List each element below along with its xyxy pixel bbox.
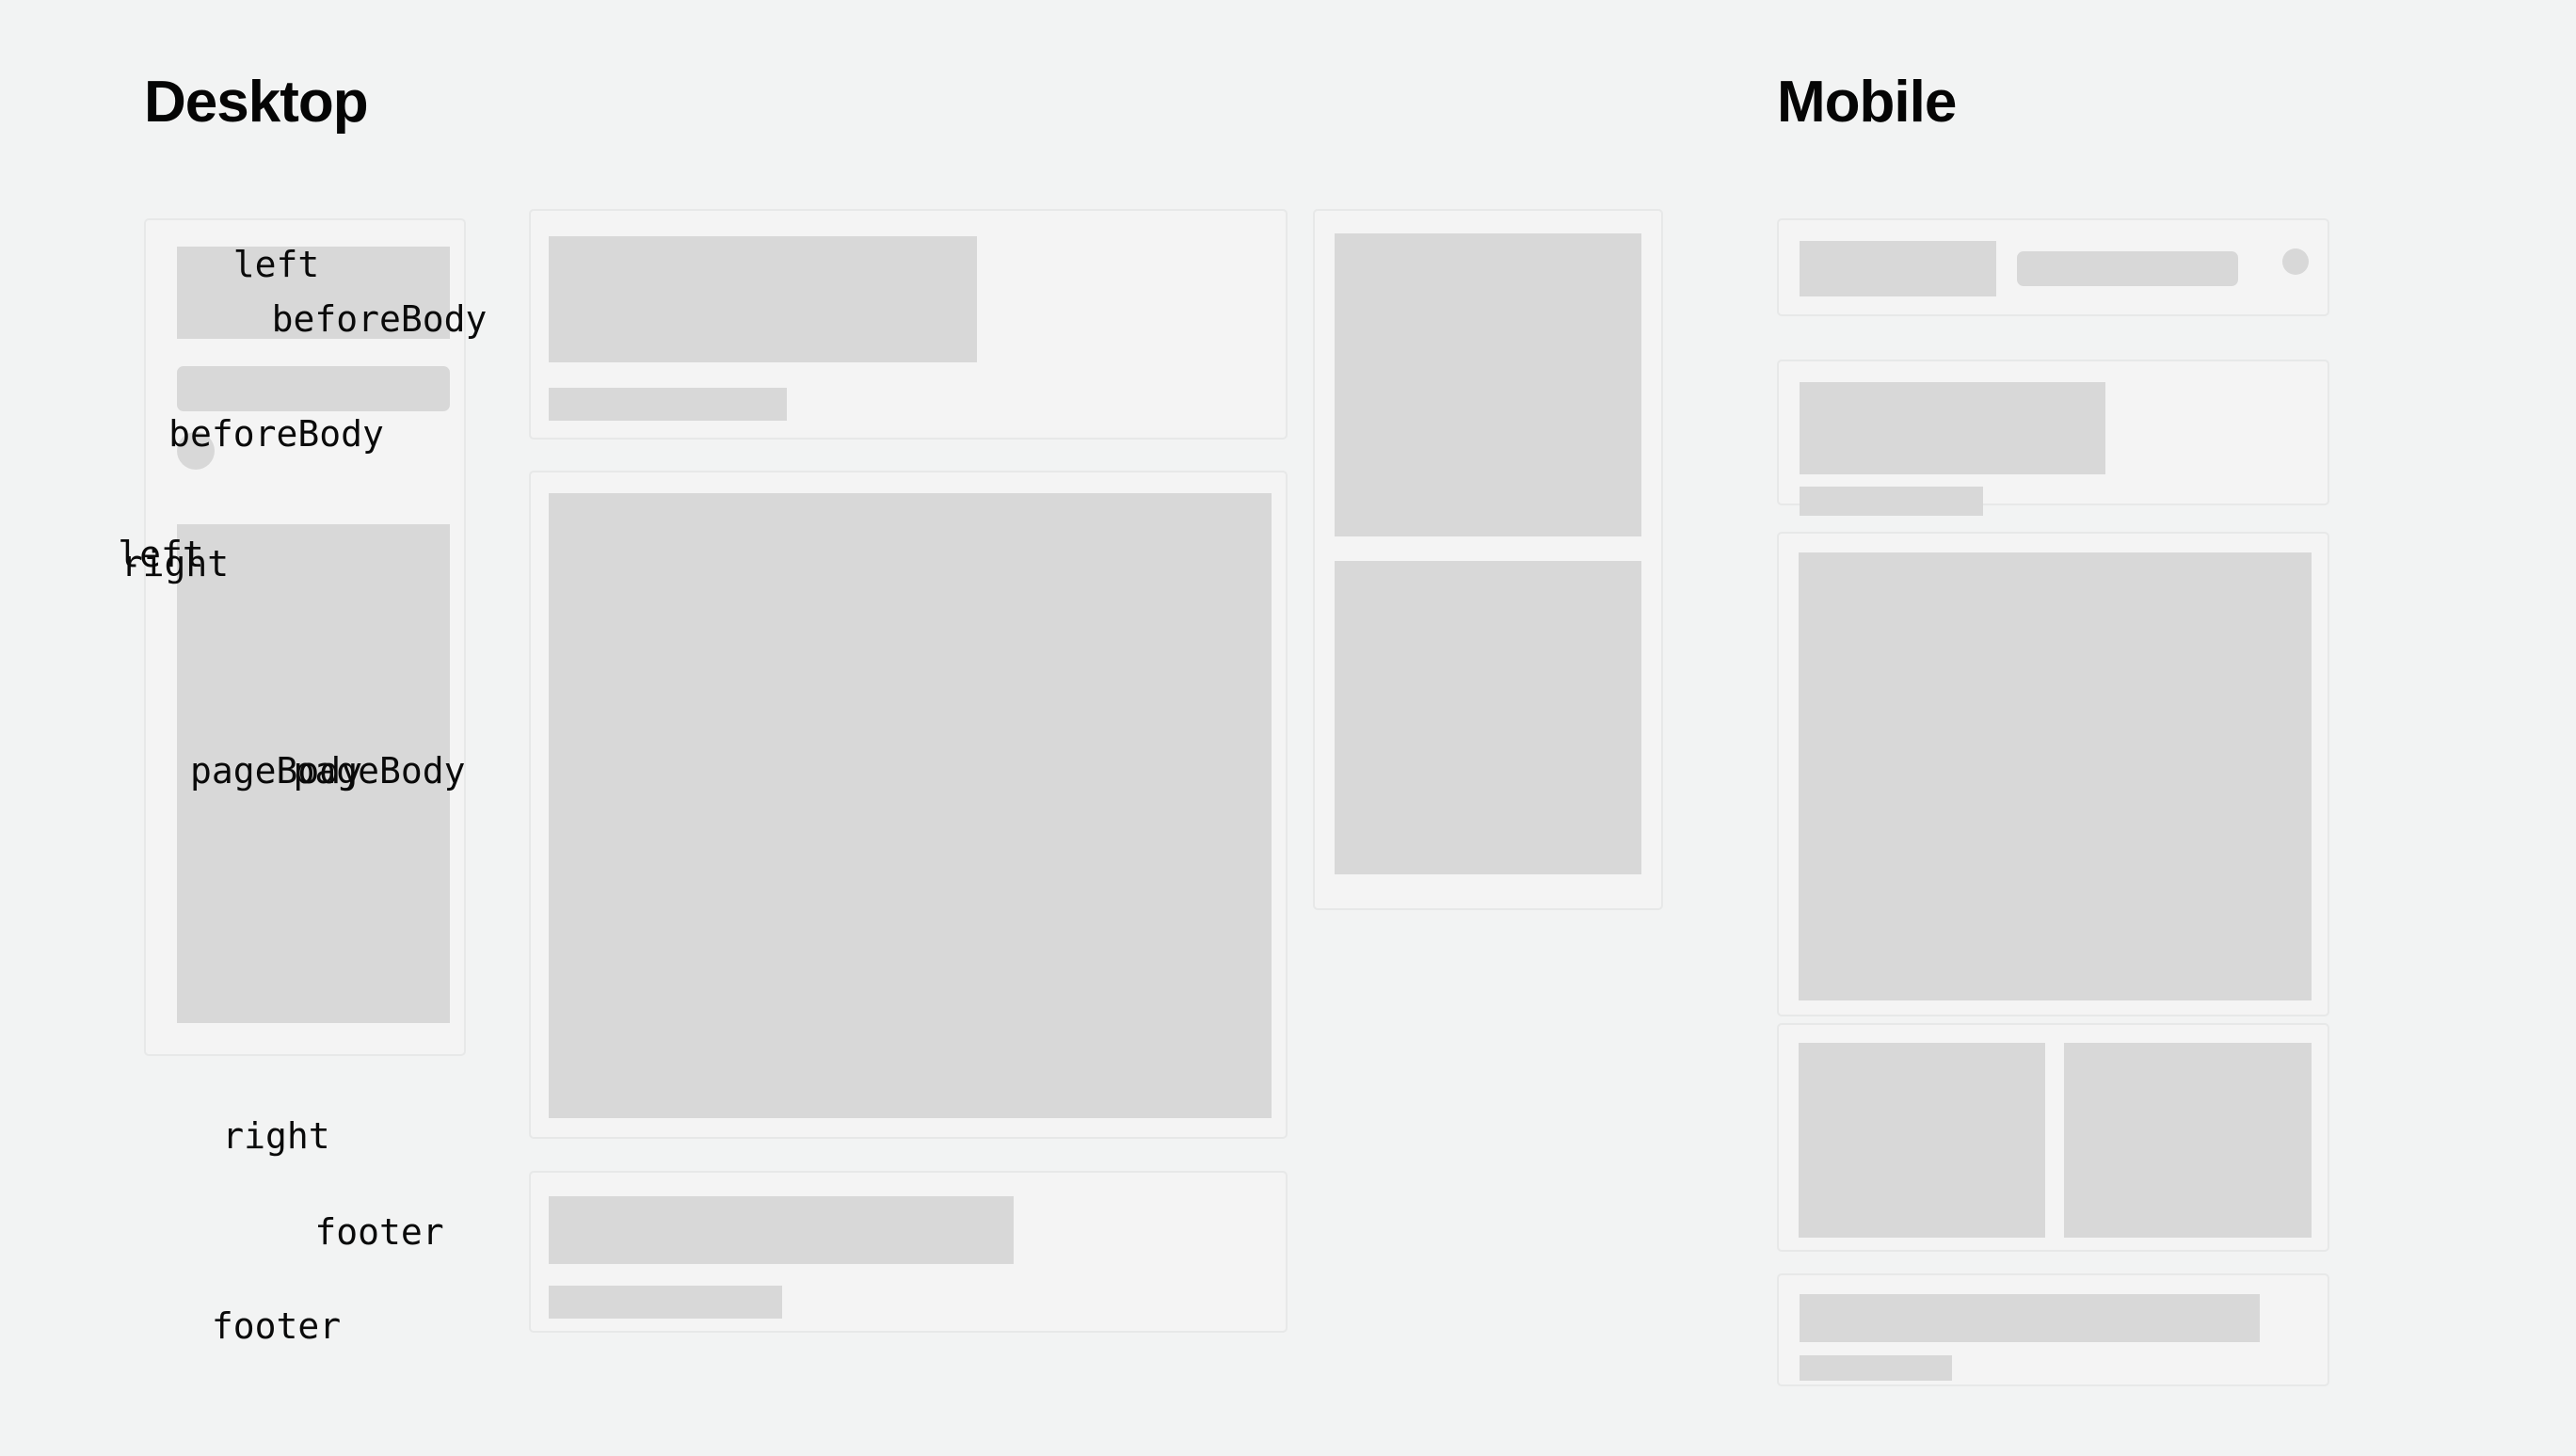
- desktop-footer-slot-panel[interactable]: [529, 1171, 1288, 1333]
- desktop-pagebody-slot-panel[interactable]: [529, 471, 1288, 1139]
- placeholder-block: [549, 236, 977, 362]
- placeholder-block-large: [549, 493, 1272, 1118]
- placeholder-block: [1800, 382, 2105, 474]
- placeholder-circle-avatar: [177, 432, 215, 470]
- placeholder-bar: [177, 366, 450, 411]
- placeholder-block-large: [1799, 552, 2312, 1000]
- mobile-pagebody-slot-panel[interactable]: [1777, 532, 2329, 1016]
- placeholder-block: [1335, 561, 1641, 874]
- mobile-footer-slot-label: footer: [0, 1308, 552, 1344]
- placeholder-block: [1799, 1043, 2045, 1238]
- placeholder-bar: [1800, 487, 1983, 516]
- placeholder-block: [1800, 1294, 2260, 1342]
- layout-preview-stage: Desktop left beforeBody pageBody footer …: [0, 0, 2576, 1456]
- placeholder-circle-avatar: [2282, 248, 2309, 275]
- mobile-right-slot-label: right: [0, 1118, 552, 1154]
- placeholder-block: [177, 247, 450, 339]
- mobile-section-title: Mobile: [1777, 73, 1956, 132]
- mobile-footer-slot-panel[interactable]: [1777, 1273, 2329, 1386]
- mobile-beforebody-slot-panel[interactable]: [1777, 360, 2329, 505]
- desktop-beforebody-slot-panel[interactable]: [529, 209, 1288, 440]
- placeholder-block: [2064, 1043, 2312, 1238]
- placeholder-bar: [549, 1286, 782, 1319]
- desktop-right-slot-panel[interactable]: [1313, 209, 1663, 910]
- mobile-left-slot-panel[interactable]: [1777, 218, 2329, 316]
- placeholder-block: [549, 1196, 1014, 1264]
- desktop-section-title: Desktop: [144, 73, 368, 132]
- placeholder-bar: [549, 388, 787, 421]
- mobile-right-slot-panel[interactable]: [1777, 1023, 2329, 1252]
- placeholder-bar: [2017, 251, 2238, 286]
- placeholder-block: [1335, 233, 1641, 536]
- desktop-left-slot-panel[interactable]: [144, 218, 466, 1056]
- placeholder-block: [1800, 241, 1996, 296]
- placeholder-bar: [1800, 1355, 1952, 1381]
- placeholder-block-tall: [177, 524, 450, 1023]
